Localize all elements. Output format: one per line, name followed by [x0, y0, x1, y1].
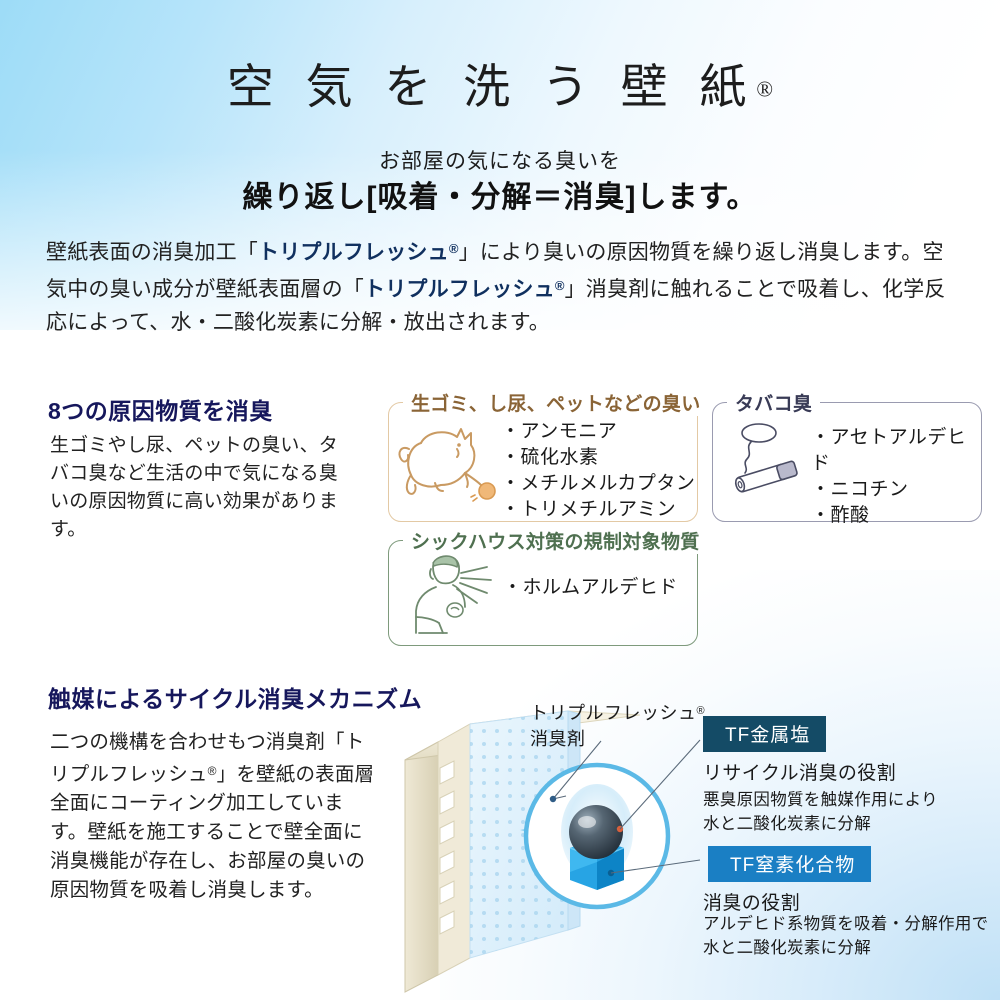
- callout-title-tf-nitrogen-compound: 消臭の役割: [703, 888, 800, 915]
- callout-desc-line-2: 水と二酸化炭素に分解: [703, 815, 871, 833]
- diagram-caption: トリプルフレッシュ® 消臭剤: [530, 698, 705, 752]
- callout-desc-tf-nitrogen-compound: アルデヒド系物質を吸着・分解作用で 水と二酸化炭素に分解: [703, 912, 988, 960]
- diagram-caption-line-1: トリプルフレッシュ: [530, 703, 697, 723]
- callout-chip-tf-nitrogen-compound: TF窒素化合物: [708, 846, 871, 882]
- callout-desc-line-2: 水と二酸化炭素に分解: [703, 939, 871, 957]
- diagram-caption-line-2: 消臭剤: [530, 729, 586, 749]
- callout-desc-line-1: アルデヒド系物質を吸着・分解作用で: [703, 915, 988, 933]
- callout-desc-line-1: 悪臭原因物質を触媒作用により: [703, 791, 938, 809]
- callout-desc-tf-metal-salt: 悪臭原因物質を触媒作用により 水と二酸化炭素に分解: [703, 788, 938, 836]
- callout-chip-tf-metal-salt: TF金属塩: [703, 716, 826, 752]
- callout-title-tf-metal-salt: リサイクル消臭の役割: [703, 758, 896, 785]
